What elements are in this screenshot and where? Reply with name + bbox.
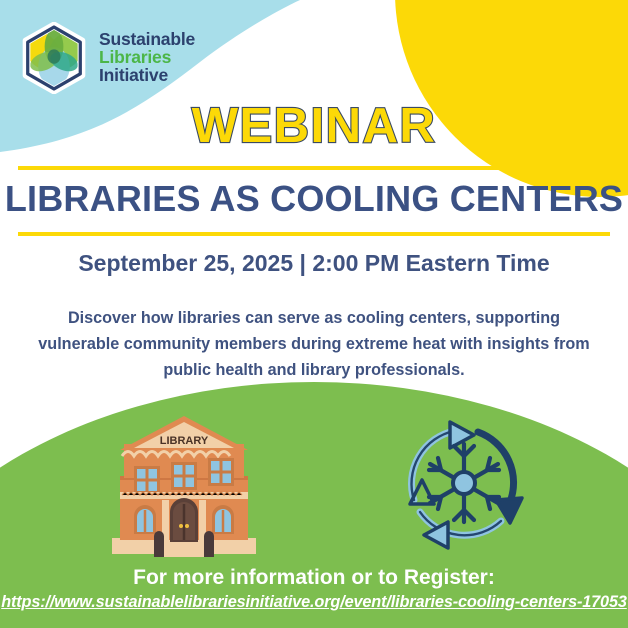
library-building-icon: LIBRARY xyxy=(98,414,270,562)
webinar-poster: Sustainable Libraries Initiative WEBINAR… xyxy=(0,0,628,628)
brand-logo: Sustainable Libraries Initiative xyxy=(18,22,195,94)
title-rule-bottom xyxy=(18,232,610,236)
eyebrow-webinar: WEBINAR xyxy=(0,98,628,154)
snowflake-center xyxy=(453,472,475,494)
page-title: LIBRARIES AS COOLING CENTERS xyxy=(0,178,628,220)
title-rule-top xyxy=(18,166,610,170)
event-description: Discover how libraries can serve as cool… xyxy=(26,305,602,384)
event-dateline: September 25, 2025 | 2:00 PM Eastern Tim… xyxy=(0,250,628,277)
brand-name-line3: Initiative xyxy=(99,67,195,85)
entrance-steps xyxy=(156,542,212,557)
library-sign-text: LIBRARY xyxy=(160,435,209,447)
snowflake-recycle-arrows-icon xyxy=(388,408,540,558)
registration-url-link[interactable]: https://www.sustainablelibrariesinitiati… xyxy=(0,593,628,612)
footer-cta: For more information or to Register: xyxy=(0,566,628,590)
sustainable-libraries-hexagon-logo-icon xyxy=(18,22,90,94)
brand-name: Sustainable Libraries Initiative xyxy=(99,31,195,85)
